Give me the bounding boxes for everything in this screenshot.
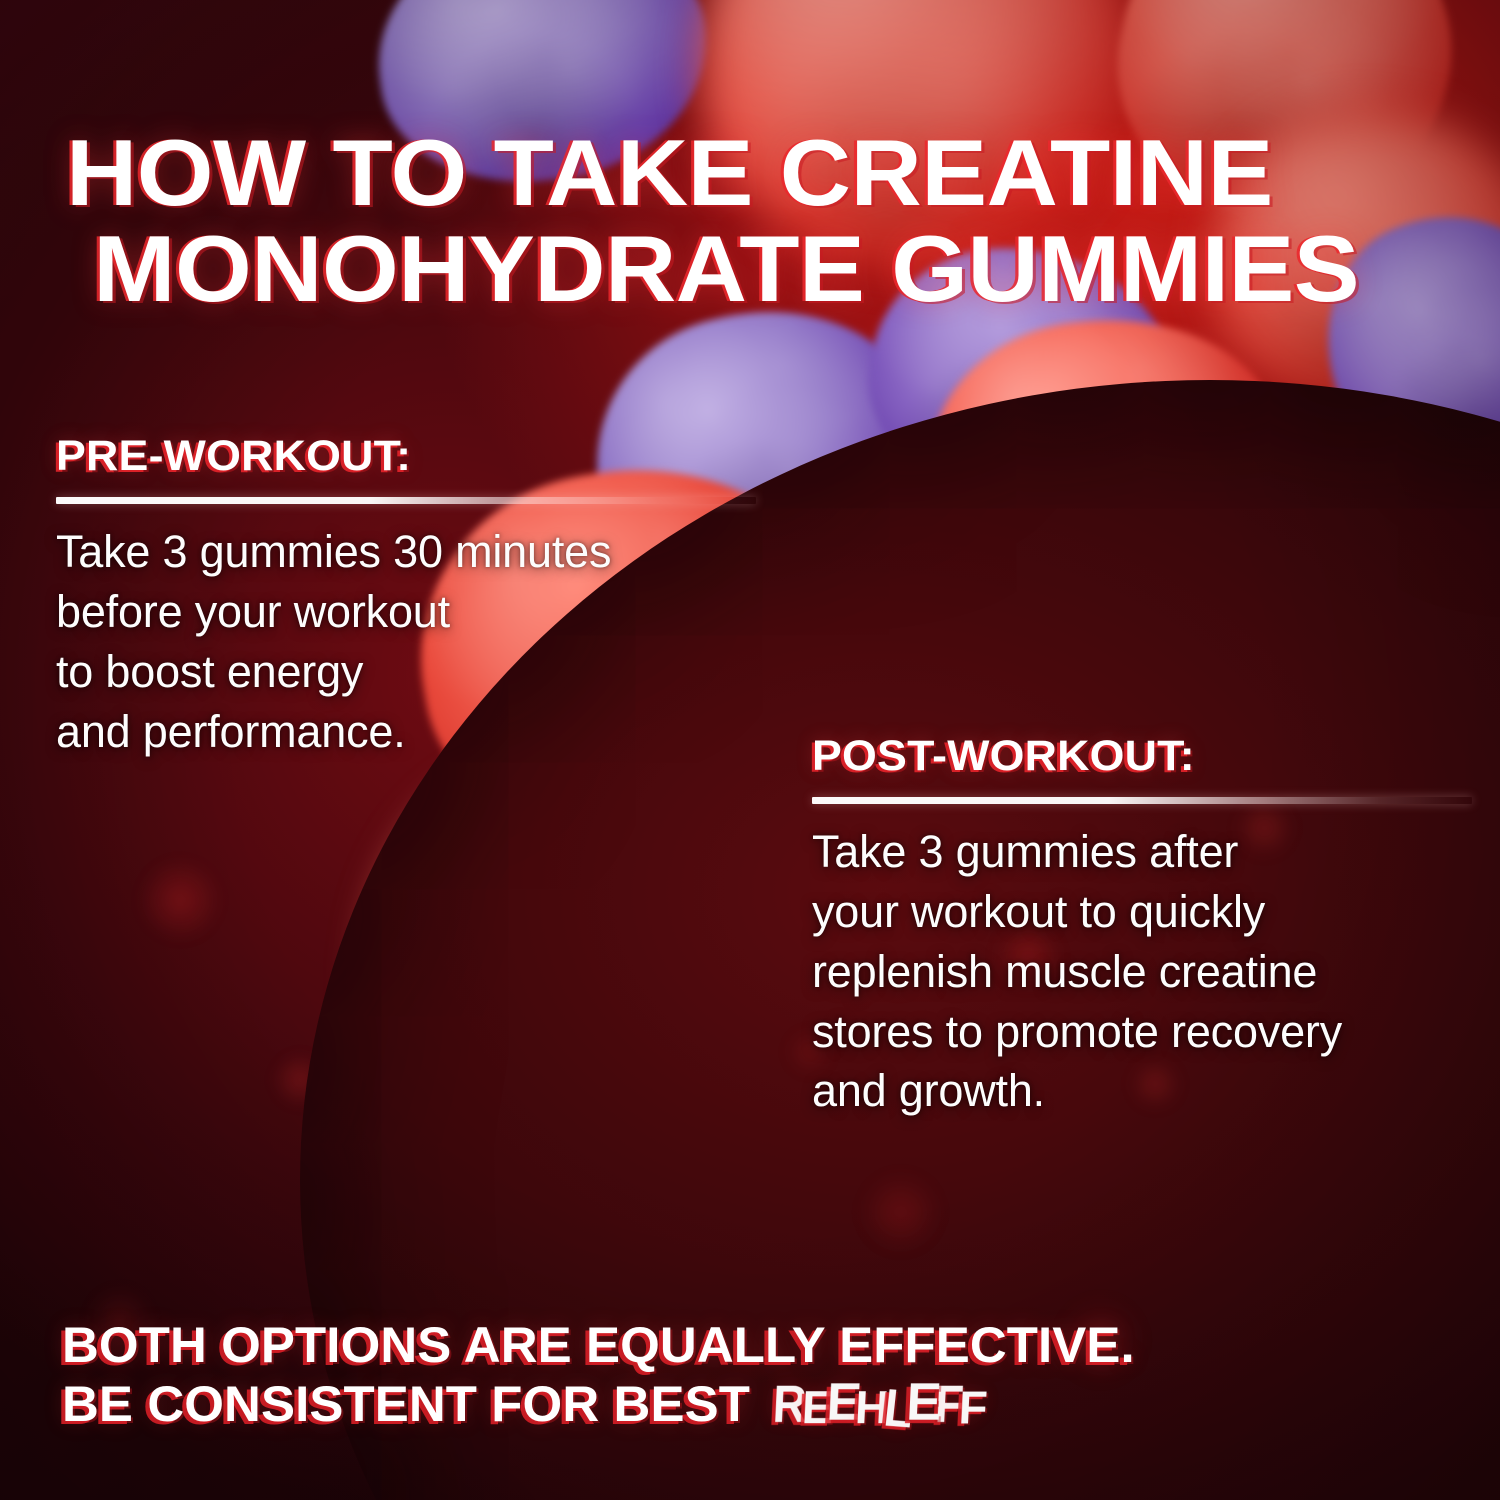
pre-workout-divider (56, 497, 756, 504)
headline-line-2: MONOHYDRATE GUMMIES (66, 221, 1462, 317)
post-workout-body-line: stores to promote recovery (812, 1002, 1472, 1062)
pre-workout-heading: PRE-WORKOUT: (56, 432, 784, 481)
pre-workout-body-line: and performance. (56, 702, 756, 762)
footer-callout: BOTH OPTIONS ARE EQUALLY EFFECTIVE. BE C… (62, 1316, 1429, 1433)
page-title: HOW TO TAKE CREATINE MONOHYDRATE GUMMIES (66, 125, 1462, 317)
pre-workout-body: Take 3 gummies 30 minutes before your wo… (56, 522, 756, 761)
footer-line-1: BOTH OPTIONS ARE EQUALLY EFFECTIVE. (62, 1316, 1429, 1375)
poster-canvas: HOW TO TAKE CREATINE MONOHYDRATE GUMMIES… (0, 0, 1500, 1500)
pre-workout-body-line: Take 3 gummies 30 minutes (56, 522, 756, 582)
pre-workout-body-line: before your workout (56, 582, 756, 642)
section-pre-workout: PRE-WORKOUT: Take 3 gummies 30 minutes b… (56, 432, 756, 761)
post-workout-body-line: your workout to quickly (812, 882, 1472, 942)
post-workout-body-line: replenish muscle creatine (812, 942, 1472, 1002)
pre-workout-body-line: to boost energy (56, 642, 756, 702)
post-workout-divider (812, 797, 1472, 804)
post-workout-body-line: Take 3 gummies after (812, 822, 1472, 882)
headline-line-1: HOW TO TAKE CREATINE (66, 120, 1273, 225)
section-post-workout: POST-WORKOUT: Take 3 gummies after your … (812, 732, 1472, 1121)
post-workout-body: Take 3 gummies after your workout to qui… (812, 822, 1472, 1121)
footer-line-2: BE CONSISTENT FOR BEST REEHLEFF (62, 1375, 1429, 1434)
footer-garbled-word: REEHLEFF (772, 1373, 985, 1435)
poster-content: HOW TO TAKE CREATINE MONOHYDRATE GUMMIES… (0, 0, 1500, 1500)
post-workout-body-line: and growth. (812, 1061, 1472, 1121)
footer-line-2-prefix: BE CONSISTENT FOR BEST (62, 1376, 764, 1432)
post-workout-heading: POST-WORKOUT: (812, 732, 1498, 781)
